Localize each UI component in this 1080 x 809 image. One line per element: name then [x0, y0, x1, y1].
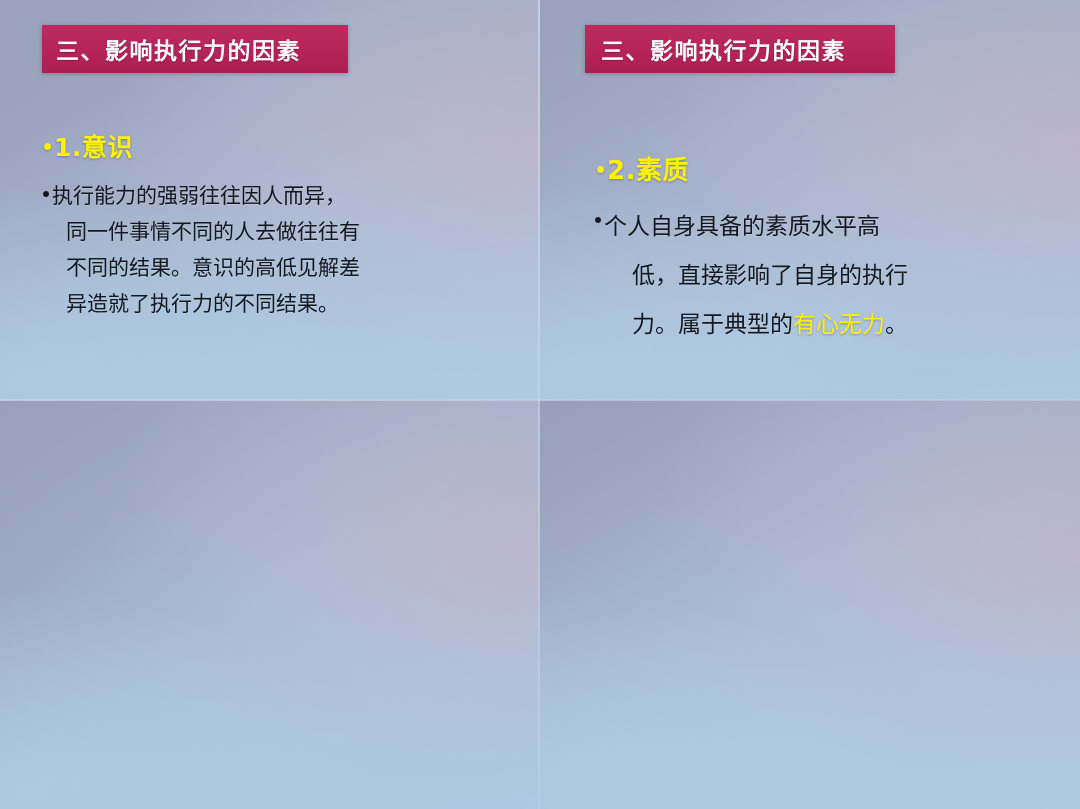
body-lines-2: 个人自身具备的素质水平高 低，直接影响了自身的执行 力。属于典型的有心无力。: [604, 203, 908, 350]
bullet-dot-icon: [597, 166, 604, 173]
slide-content-2: 三、影响执行力的因素 2.素质 个人自身具备的素质水平高 低，直接影响了自身的执…: [539, 0, 1080, 400]
bullet-dot-icon: [595, 217, 601, 223]
body-lines-1: 执行能力的强弱往往因人而异， 同一件事情不同的人去做往往有 不同的结果。意识的高…: [52, 178, 360, 322]
slide-panel-4[interactable]: 三、影响执行力的因素 4.管理 决策层在下达执行目标时，必须要有周 密的计划、严…: [539, 400, 1080, 809]
slide-content-1: 三、影响执行力的因素 1.意识 执行能力的强弱往往因人而异， 同一件事情不同的人…: [0, 0, 539, 400]
slide-panel-2[interactable]: 三、影响执行力的因素 2.素质 个人自身具备的素质水平高 低，直接影响了自身的执…: [539, 0, 1080, 400]
body-line: 同一件事情不同的人去做往往有: [52, 214, 360, 250]
body-line: 不同的结果。意识的高低见解差: [52, 250, 360, 286]
section-heading-2: 2.素质: [597, 150, 689, 187]
section-heading-1: 1.意识: [44, 128, 133, 164]
slide-content-4: 三、影响执行力的因素 4.管理 决策层在下达执行目标时，必须要有周 密的计划、严…: [539, 400, 1080, 809]
slide-panel-3[interactable]: 三、影响执行力的因素 3.心态 一个人有什么样的心态，就会有什么样的追求 和目标…: [0, 400, 539, 809]
title-banner-2: 三、影响执行力的因素: [585, 25, 895, 73]
section-heading-text-2: 2.素质: [607, 150, 689, 187]
body-line-with-highlight: 力。属于典型的有心无力。: [604, 301, 908, 350]
body-block-1: 执行能力的强弱往往因人而异， 同一件事情不同的人去做往往有 不同的结果。意识的高…: [43, 178, 360, 322]
title-banner-1: 三、影响执行力的因素: [42, 25, 348, 73]
slide-grid-stage: 三、影响执行力的因素 1.意识 执行能力的强弱往往因人而异， 同一件事情不同的人…: [0, 0, 1080, 809]
body-line-tail: 。: [885, 312, 908, 338]
bullet-dot-icon: [43, 191, 49, 197]
body-line-lead: 力。属于典型的: [632, 312, 793, 338]
body-block-2: 个人自身具备的素质水平高 低，直接影响了自身的执行 力。属于典型的有心无力。: [595, 203, 908, 350]
title-banner-text-1: 三、影响执行力的因素: [56, 32, 301, 66]
body-line: 异造就了执行力的不同结果。: [52, 286, 360, 322]
slide-panel-1[interactable]: 三、影响执行力的因素 1.意识 执行能力的强弱往往因人而异， 同一件事情不同的人…: [0, 0, 539, 400]
body-line: 个人自身具备的素质水平高: [604, 203, 908, 252]
section-heading-text-1: 1.意识: [54, 128, 133, 164]
body-line: 执行能力的强弱往往因人而异，: [52, 178, 360, 214]
highlight-phrase: 有心无力: [793, 312, 885, 338]
title-banner-text-2: 三、影响执行力的因素: [601, 32, 846, 66]
body-line: 低，直接影响了自身的执行: [604, 252, 908, 301]
quadrant-grid: 三、影响执行力的因素 1.意识 执行能力的强弱往往因人而异， 同一件事情不同的人…: [0, 0, 1080, 809]
bullet-dot-icon: [44, 143, 51, 150]
slide-content-3: 三、影响执行力的因素 3.心态 一个人有什么样的心态，就会有什么样的追求 和目标…: [0, 400, 539, 809]
